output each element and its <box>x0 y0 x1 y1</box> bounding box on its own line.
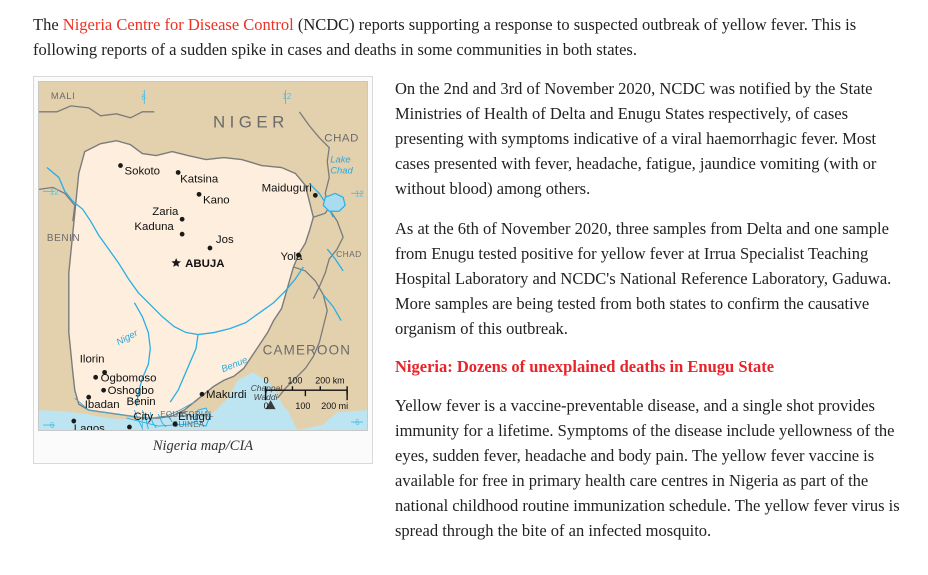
map-city-label: Ibadan <box>85 399 120 411</box>
map-city-label: Ilorin <box>80 354 105 366</box>
map-city-label: Zaria <box>152 206 179 218</box>
section-subheading: Nigeria: Dozens of unexplained deaths in… <box>395 355 904 379</box>
nigeria-map-image: NIGERMALICHADCHADBENINCAMEROONEQUATORIAL… <box>38 81 368 431</box>
map-city-label: Ogbomoso <box>101 372 157 384</box>
map-country-label: BENIN <box>47 233 80 244</box>
map-country-label: CHAD <box>336 249 361 259</box>
map-country-label: CAMEROON <box>263 343 351 358</box>
map-water-label: Chad <box>330 166 353 177</box>
paragraph-notification: On the 2nd and 3rd of November 2020, NCD… <box>395 76 904 201</box>
map-city-dot <box>127 425 132 430</box>
map-grid-number: 6 <box>355 418 360 427</box>
map-grid-number: 12 <box>50 188 59 197</box>
paragraph-vaccine: Yellow fever is a vaccine-preventable di… <box>395 393 904 543</box>
map-country-label: CHAD <box>324 133 359 145</box>
map-city-dot <box>296 253 301 258</box>
map-city-dot <box>93 375 98 380</box>
map-city-dot <box>180 232 185 237</box>
paragraph-lab-results: As at the 6th of November 2020, three sa… <box>395 216 904 341</box>
map-city-label: Lagos <box>74 423 105 431</box>
map-city-dot <box>173 422 178 427</box>
map-city-dot <box>176 170 181 175</box>
svg-text:200 mi: 200 mi <box>321 401 348 411</box>
lead-text-before: The <box>33 15 63 34</box>
lead-paragraph: The Nigeria Centre for Disease Control (… <box>33 12 904 62</box>
figure-caption: Nigeria map/CIA <box>38 431 368 461</box>
map-city-dot <box>180 217 185 222</box>
svg-text:200 km: 200 km <box>315 375 344 385</box>
nigeria-map-figure: NIGERMALICHADCHADBENINCAMEROONEQUATORIAL… <box>33 76 373 464</box>
map-grid-number: 6 <box>50 421 55 430</box>
map-city-label: Maiduguri <box>262 183 312 195</box>
right-column: On the 2nd and 3rd of November 2020, NCD… <box>395 76 904 557</box>
map-city-label: Sokoto <box>124 166 160 178</box>
map-city-label: Kano <box>203 194 230 206</box>
map-city-label: Katsina <box>180 174 219 186</box>
map-city-label: Jos <box>216 234 234 246</box>
map-city-dot <box>118 163 123 168</box>
map-city-label: ABUJA <box>185 258 224 270</box>
map-city-label: Enugu <box>178 411 211 423</box>
map-city-label: Kaduna <box>134 221 174 233</box>
svg-text:100: 100 <box>287 375 302 385</box>
map-city-dot <box>313 193 318 198</box>
map-grid-number: 12 <box>355 189 364 198</box>
map-city-label: Makurdi <box>206 389 247 401</box>
map-city-dot <box>86 395 91 400</box>
ncdc-link[interactable]: Nigeria Centre for Disease Control <box>63 15 294 34</box>
map-city-dot <box>71 419 76 424</box>
article-body: The Nigeria Centre for Disease Control (… <box>0 0 928 557</box>
map-city-label: Benin <box>126 396 155 408</box>
map-city-dot <box>200 392 205 397</box>
map-country-label: MALI <box>51 91 75 102</box>
svg-text:0: 0 <box>264 375 269 385</box>
map-city-label: City <box>133 411 153 423</box>
svg-text:0: 0 <box>264 401 269 411</box>
map-country-label: NIGER <box>213 113 289 132</box>
svg-text:100: 100 <box>295 401 310 411</box>
map-city-dot <box>208 246 213 251</box>
map-city-dot <box>101 388 106 393</box>
map-city-dot <box>197 192 202 197</box>
map-grid-number: 6 <box>141 93 146 102</box>
map-water-label: Lake <box>330 155 350 166</box>
map-grid-number: 12 <box>283 92 292 101</box>
